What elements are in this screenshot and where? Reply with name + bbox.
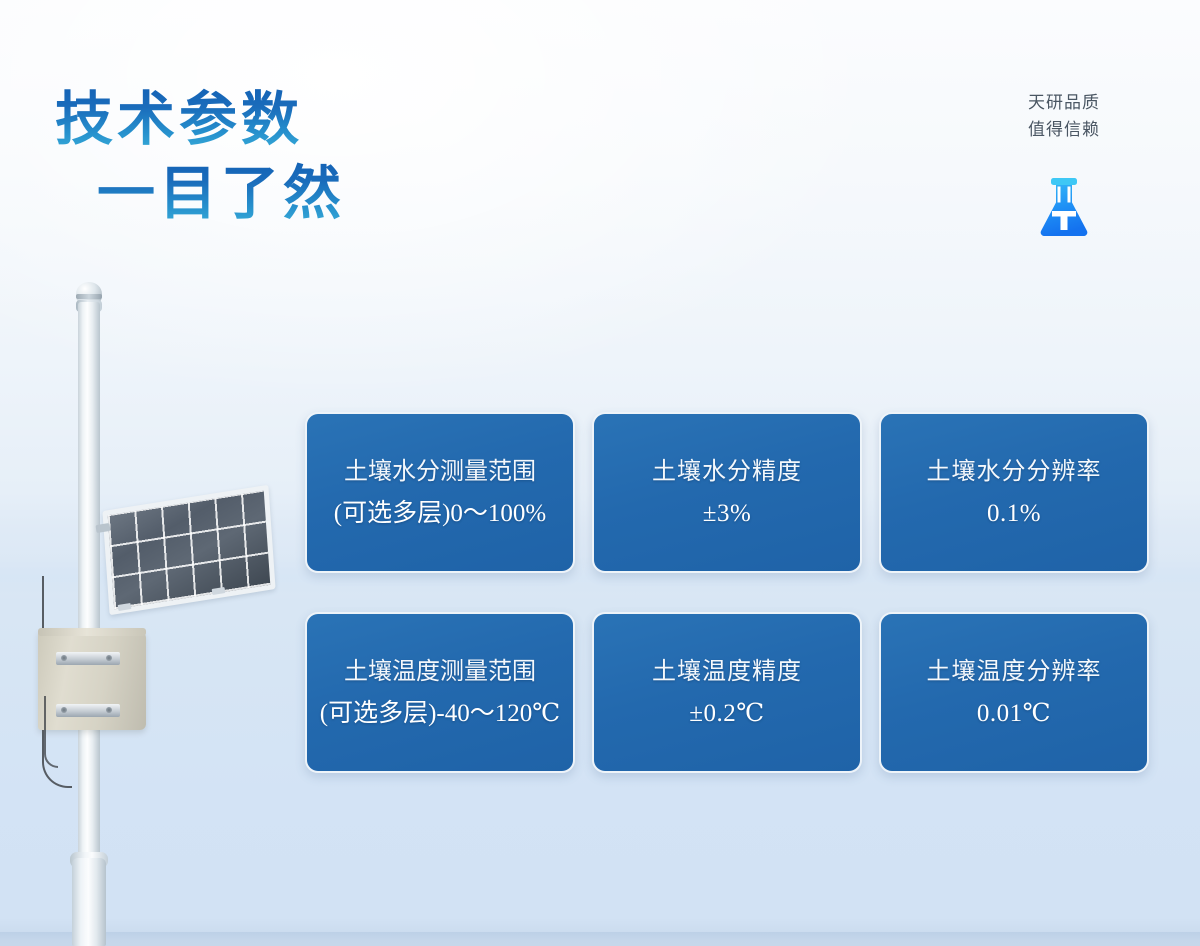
spec-card-title: 土壤温度精度 <box>652 658 802 686</box>
spec-card-soil-moisture-range: 土壤水分测量范围 (可选多层)0～100% <box>305 412 575 573</box>
spec-card-soil-moisture-resolution: 土壤水分分辨率 0.1% <box>879 412 1149 573</box>
clamp-bolt <box>61 655 67 661</box>
mounting-pole <box>78 302 100 902</box>
spec-card-title: 土壤水分精度 <box>652 458 802 486</box>
spec-card-title: 土壤温度分辨率 <box>927 658 1102 686</box>
pole-clamp <box>56 704 120 717</box>
spec-card-title: 土壤温度测量范围 <box>344 658 536 686</box>
solar-panel-cells <box>108 491 271 610</box>
spec-card-value: ±0.2℃ <box>689 699 764 728</box>
spec-card-soil-temperature-resolution: 土壤温度分辨率 0.01℃ <box>879 612 1149 773</box>
clamp-bolt <box>106 655 112 661</box>
spec-card-value: ±3% <box>703 499 752 528</box>
pole-clamp <box>56 652 120 665</box>
enclosure-lid <box>38 628 146 636</box>
spec-card-grid: 土壤水分测量范围 (可选多层)0～100% 土壤水分精度 ±3% 土壤水分分辨率… <box>305 412 1150 773</box>
page-title-line-1: 技术参数 <box>55 82 345 156</box>
spec-card-title: 土壤水分分辨率 <box>927 458 1102 486</box>
spec-card-value: (可选多层)0～100% <box>334 499 546 528</box>
brand-block: 天研品质 值得信赖 <box>974 90 1154 238</box>
spec-card-soil-moisture-accuracy: 土壤水分精度 ±3% <box>592 412 862 573</box>
page-title-line-2: 一目了然 <box>55 156 345 230</box>
technical-parameters-page: 技术参数 一目了然 天研品质 值得信赖 <box>0 0 1200 946</box>
spec-card-soil-temperature-range: 土壤温度测量范围 (可选多层)-40～120℃ <box>305 612 575 773</box>
spec-card-value: 0.1% <box>987 499 1041 528</box>
dome-band <box>76 294 102 299</box>
flask-icon <box>1035 176 1093 238</box>
clamp-bolt <box>61 707 67 713</box>
page-title: 技术参数 一目了然 <box>55 82 345 230</box>
pole-base <box>72 858 106 946</box>
product-photo <box>0 280 300 946</box>
solar-panel <box>102 485 275 615</box>
spec-card-value: (可选多层)-40～120℃ <box>320 699 560 728</box>
spec-card-soil-temperature-accuracy: 土壤温度精度 ±0.2℃ <box>592 612 862 773</box>
spec-card-value: 0.01℃ <box>977 699 1051 728</box>
brand-slogan-line-1: 天研品质 <box>974 90 1154 117</box>
spec-card-title: 土壤水分测量范围 <box>344 458 536 486</box>
clamp-bolt <box>106 707 112 713</box>
brand-slogan-line-2: 值得信赖 <box>974 117 1154 144</box>
